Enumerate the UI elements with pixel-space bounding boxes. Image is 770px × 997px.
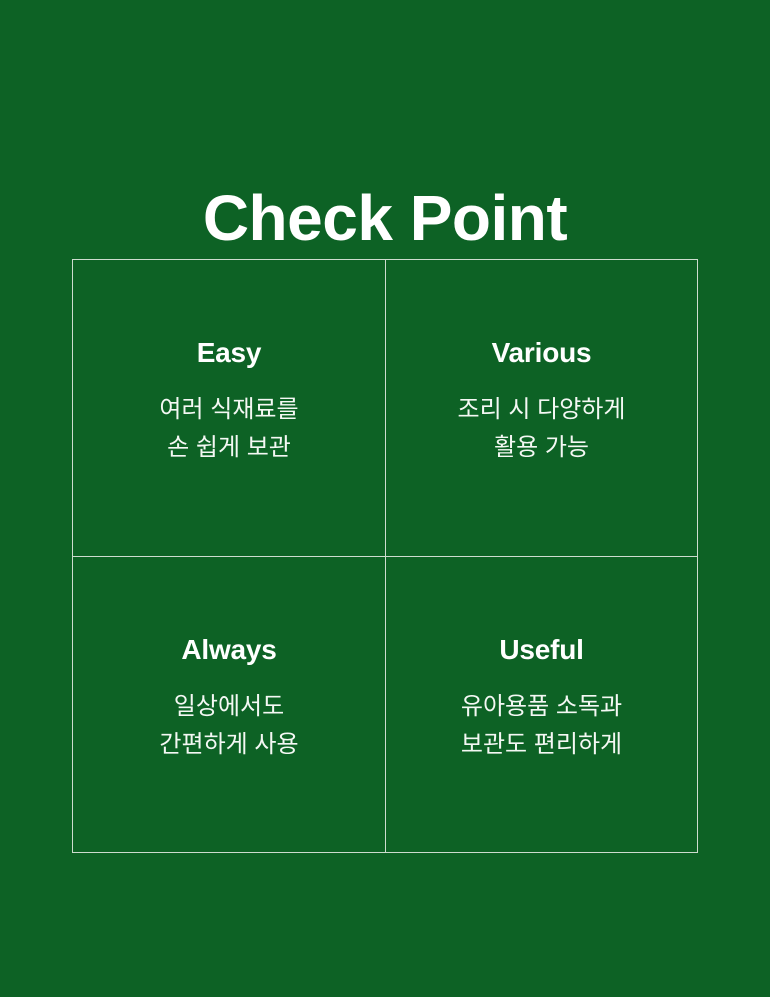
cell-body-various: 조리 시 다양하게 활용 가능	[458, 391, 626, 467]
cell-heading-easy: Easy	[197, 338, 262, 369]
page-title: Check Point	[0, 186, 770, 250]
cell-body-always: 일상에서도 간편하게 사용	[159, 688, 298, 764]
check-point-grid: Easy 여러 식재료를 손 쉽게 보관 Various 조리 시 다양하게 활…	[72, 259, 698, 853]
cell-body-useful: 유아용품 소독과 보관도 편리하게	[461, 688, 622, 764]
cell-body-easy: 여러 식재료를 손 쉽게 보관	[159, 391, 298, 467]
cell-heading-various: Various	[492, 338, 592, 369]
check-point-panel: Check Point Easy 여러 식재료를 손 쉽게 보관 Various…	[0, 0, 770, 997]
grid-cell-various: Various 조리 시 다양하게 활용 가능	[385, 260, 697, 556]
grid-cell-useful: Useful 유아용품 소독과 보관도 편리하게	[385, 556, 697, 852]
grid-cell-always: Always 일상에서도 간편하게 사용	[73, 556, 385, 852]
cell-heading-always: Always	[181, 635, 276, 666]
grid-cell-easy: Easy 여러 식재료를 손 쉽게 보관	[73, 260, 385, 556]
cell-heading-useful: Useful	[499, 635, 583, 666]
